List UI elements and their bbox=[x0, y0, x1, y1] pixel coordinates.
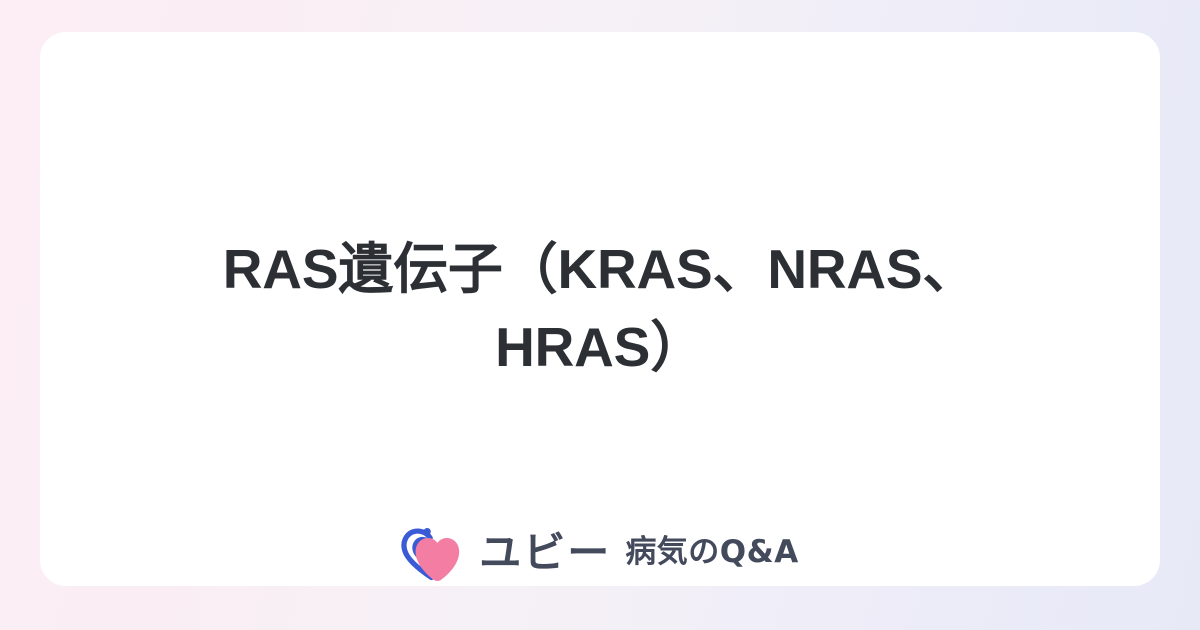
content-card: RAS遺伝子（KRAS、NRAS、HRAS） ユビー 病気のQ&A bbox=[40, 32, 1160, 586]
title-block: RAS遺伝子（KRAS、NRAS、HRAS） bbox=[40, 218, 1160, 398]
page-title: RAS遺伝子（KRAS、NRAS、HRAS） bbox=[210, 230, 990, 386]
ubie-heart-logo-icon bbox=[401, 525, 463, 581]
brand-tagline: 病気のQ&A bbox=[625, 537, 798, 569]
brand-row: ユビー 病気のQ&A bbox=[40, 518, 1160, 588]
share-card-canvas: RAS遺伝子（KRAS、NRAS、HRAS） ユビー 病気のQ&A bbox=[0, 0, 1200, 630]
brand-wordmark: ユビー bbox=[479, 532, 611, 574]
